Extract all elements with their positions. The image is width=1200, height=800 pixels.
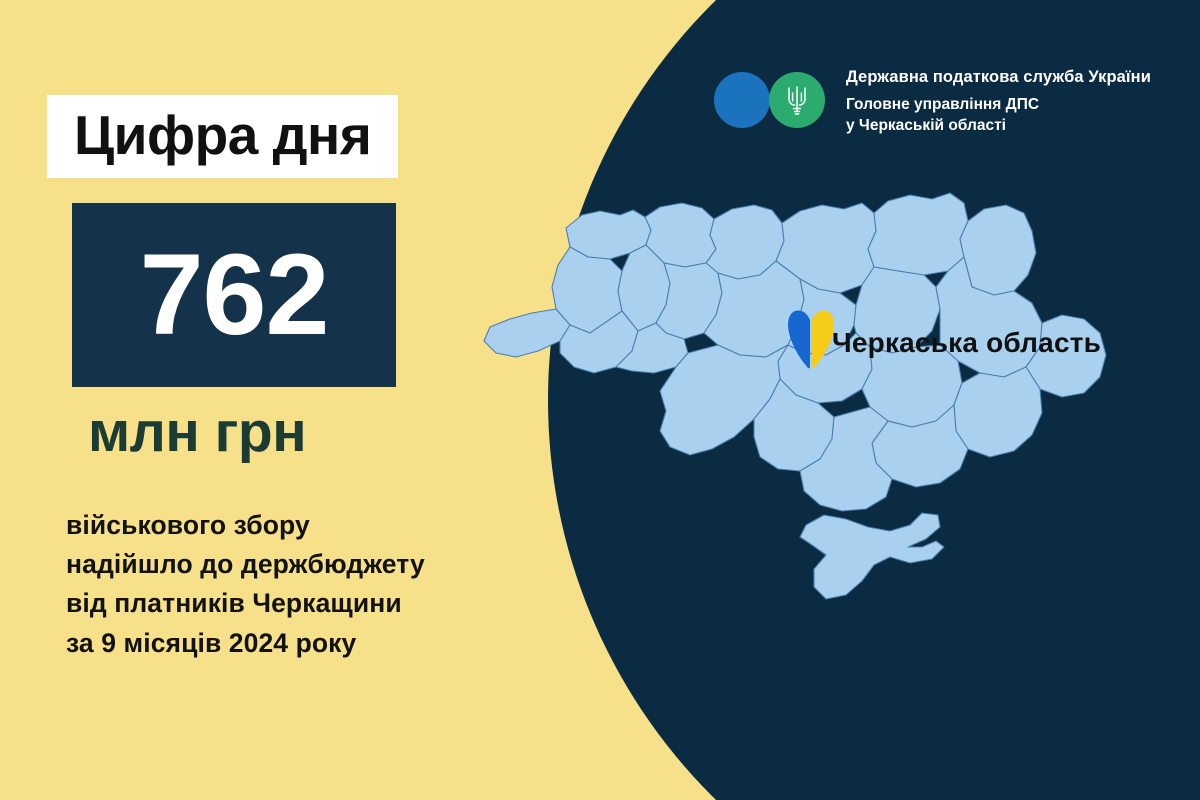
figure-unit: млн грн: [88, 403, 306, 463]
logo-line-region: у Черкаській області: [846, 116, 1151, 137]
trident-icon: [786, 84, 808, 116]
map-region-label: Черкаська область: [832, 327, 1101, 359]
figure-box: 762: [72, 203, 396, 387]
logo-text-block: Державна податкова служба України Головн…: [846, 66, 1151, 137]
infographic-canvas: Черкаська область Державна податкова с: [0, 0, 1200, 800]
description-text: військового збору надійшло до держбюджет…: [66, 506, 586, 663]
dps-logo: Державна податкова служба України Головн…: [714, 66, 1151, 137]
blue-circle-icon: [714, 72, 770, 128]
figure-value: 762: [140, 238, 329, 353]
logo-line-department: Головне управління ДПС: [846, 95, 1151, 116]
logo-marks: [714, 66, 834, 128]
kicker-banner: Цифра дня: [47, 95, 398, 178]
logo-line-agency: Державна податкова служба України: [846, 68, 1151, 88]
kicker-label: Цифра дня: [74, 107, 371, 164]
